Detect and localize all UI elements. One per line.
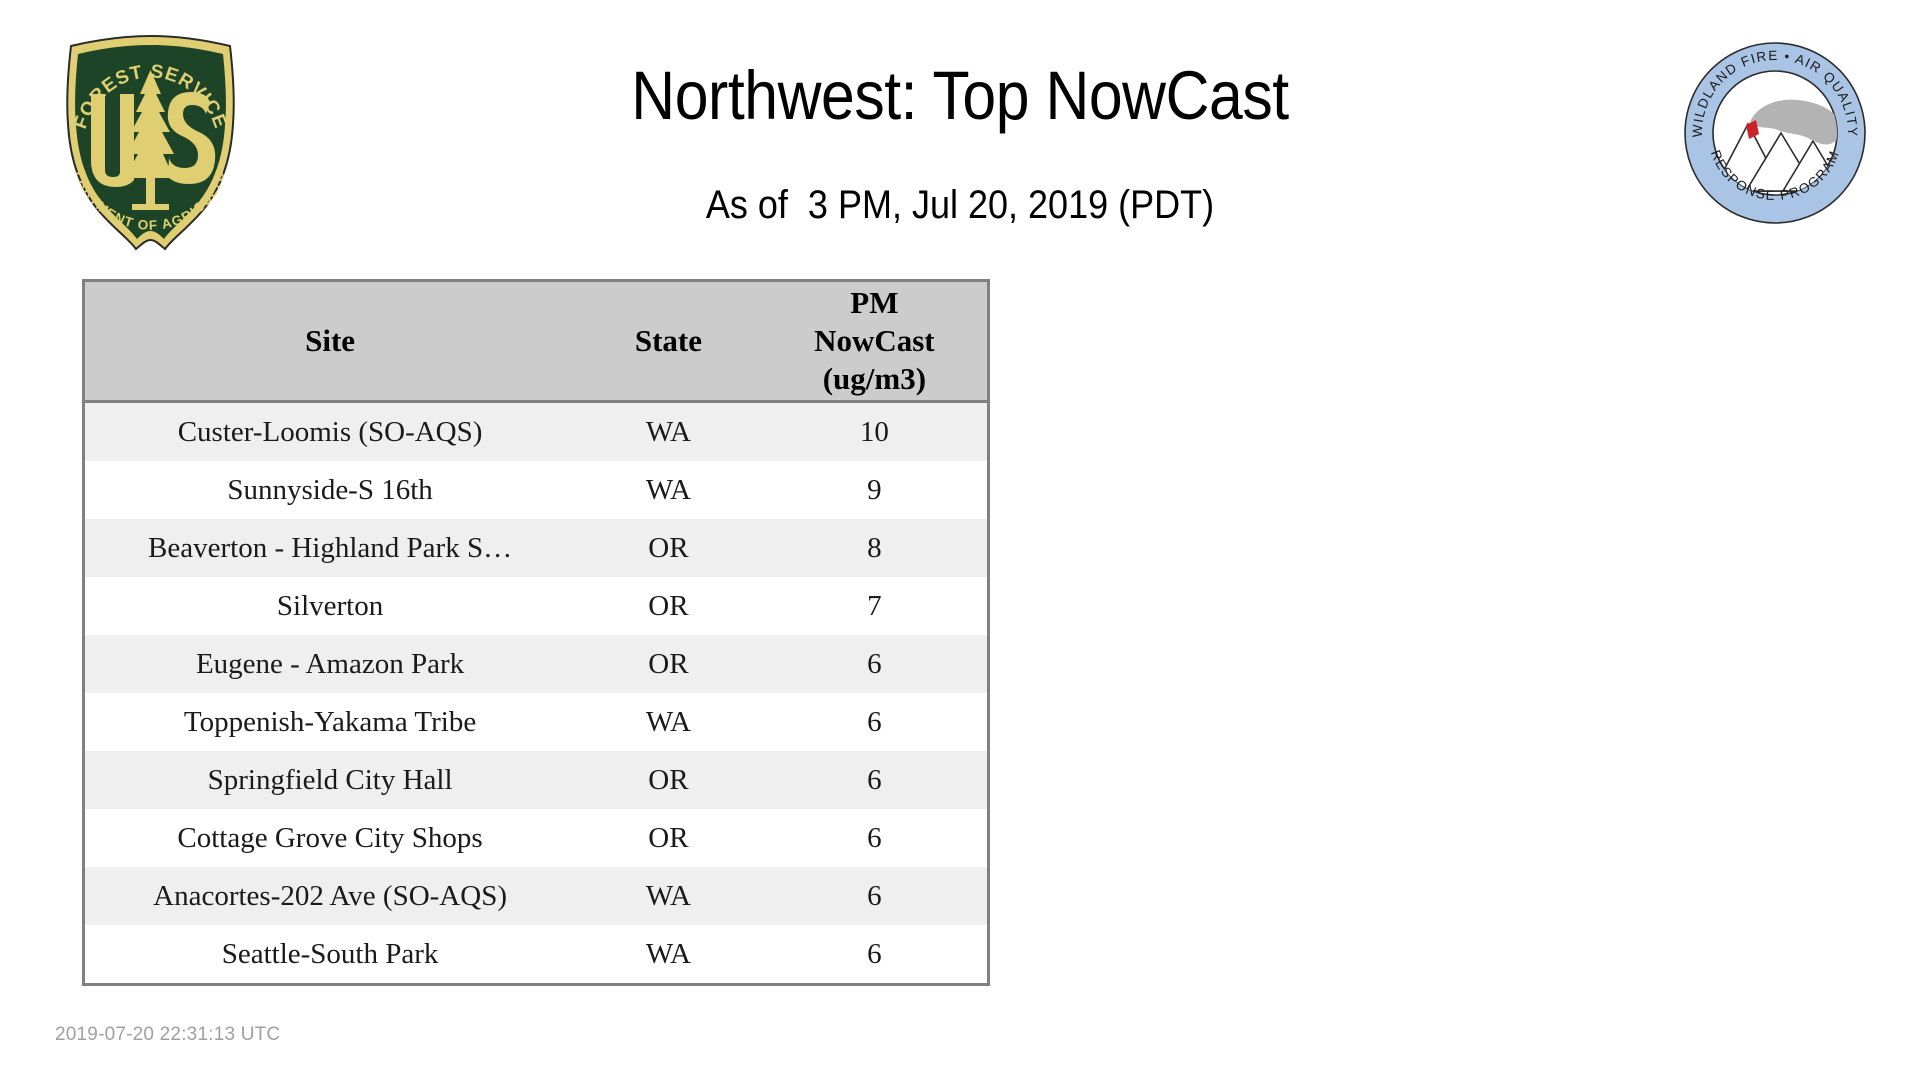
- cell-site: Anacortes-202 Ave (SO-AQS): [84, 867, 576, 925]
- cell-site: Sunnyside-S 16th: [84, 461, 576, 519]
- cell-state: OR: [575, 809, 762, 867]
- cell-state: OR: [575, 751, 762, 809]
- cell-site: Beaverton - Highland Park S…: [84, 519, 576, 577]
- cell-pm-nowcast: 8: [762, 519, 989, 577]
- cell-state: OR: [575, 635, 762, 693]
- table-row[interactable]: Anacortes-202 Ave (SO-AQS)WA6: [84, 867, 989, 925]
- page-title: Northwest: Top NowCast: [115, 56, 1805, 136]
- cell-site: Springfield City Hall: [84, 751, 576, 809]
- cell-pm-nowcast: 6: [762, 809, 989, 867]
- cell-pm-nowcast: 10: [762, 402, 989, 462]
- cell-site: Cottage Grove City Shops: [84, 809, 576, 867]
- cell-site: Silverton: [84, 577, 576, 635]
- table-row[interactable]: Eugene - Amazon ParkOR6: [84, 635, 989, 693]
- table-body: Custer-Loomis (SO-AQS)WA10Sunnyside-S 16…: [84, 402, 989, 985]
- cell-pm-nowcast: 6: [762, 925, 989, 985]
- page-subtitle: As of 3 PM, Jul 20, 2019 (PDT): [96, 182, 1824, 228]
- footer-timestamp: 2019-07-20 22:31:13 UTC: [55, 1024, 280, 1046]
- table-row[interactable]: Cottage Grove City ShopsOR6: [84, 809, 989, 867]
- cell-state: WA: [575, 693, 762, 751]
- cell-pm-nowcast: 6: [762, 751, 989, 809]
- cell-state: WA: [575, 402, 762, 462]
- table-row[interactable]: Custer-Loomis (SO-AQS)WA10: [84, 402, 989, 462]
- cell-site: Eugene - Amazon Park: [84, 635, 576, 693]
- cell-pm-nowcast: 6: [762, 635, 989, 693]
- column-header-site[interactable]: Site: [84, 281, 576, 402]
- table-row[interactable]: Springfield City HallOR6: [84, 751, 989, 809]
- cell-state: OR: [575, 519, 762, 577]
- nowcast-table-container: Site State PM NowCast (ug/m3) Custer-Loo…: [82, 279, 990, 986]
- column-header-pm-nowcast[interactable]: PM NowCast (ug/m3): [762, 281, 989, 402]
- cell-state: WA: [575, 461, 762, 519]
- table-row[interactable]: Toppenish-Yakama TribeWA6: [84, 693, 989, 751]
- cell-site: Custer-Loomis (SO-AQS): [84, 402, 576, 462]
- cell-site: Seattle-South Park: [84, 925, 576, 985]
- cell-pm-nowcast: 9: [762, 461, 989, 519]
- page-header: FOREST SERVICE DEPARTMENT OF AGRICULTURE…: [0, 0, 1920, 280]
- cell-state: OR: [575, 577, 762, 635]
- cell-pm-nowcast: 6: [762, 867, 989, 925]
- table-row[interactable]: Beaverton - Highland Park S…OR8: [84, 519, 989, 577]
- cell-state: WA: [575, 867, 762, 925]
- wildland-fire-air-quality-logo: WILDLAND FIRE • AIR QUALITY RESPONSE PRO…: [1680, 38, 1870, 228]
- table-header-row: Site State PM NowCast (ug/m3): [84, 281, 989, 402]
- table-row[interactable]: Sunnyside-S 16thWA9: [84, 461, 989, 519]
- cell-pm-nowcast: 6: [762, 693, 989, 751]
- cell-site: Toppenish-Yakama Tribe: [84, 693, 576, 751]
- table-row[interactable]: SilvertonOR7: [84, 577, 989, 635]
- column-header-state[interactable]: State: [575, 281, 762, 402]
- nowcast-table: Site State PM NowCast (ug/m3) Custer-Loo…: [82, 279, 990, 986]
- cell-pm-nowcast: 7: [762, 577, 989, 635]
- cell-state: WA: [575, 925, 762, 985]
- table-header: Site State PM NowCast (ug/m3): [84, 281, 989, 402]
- table-row[interactable]: Seattle-South ParkWA6: [84, 925, 989, 985]
